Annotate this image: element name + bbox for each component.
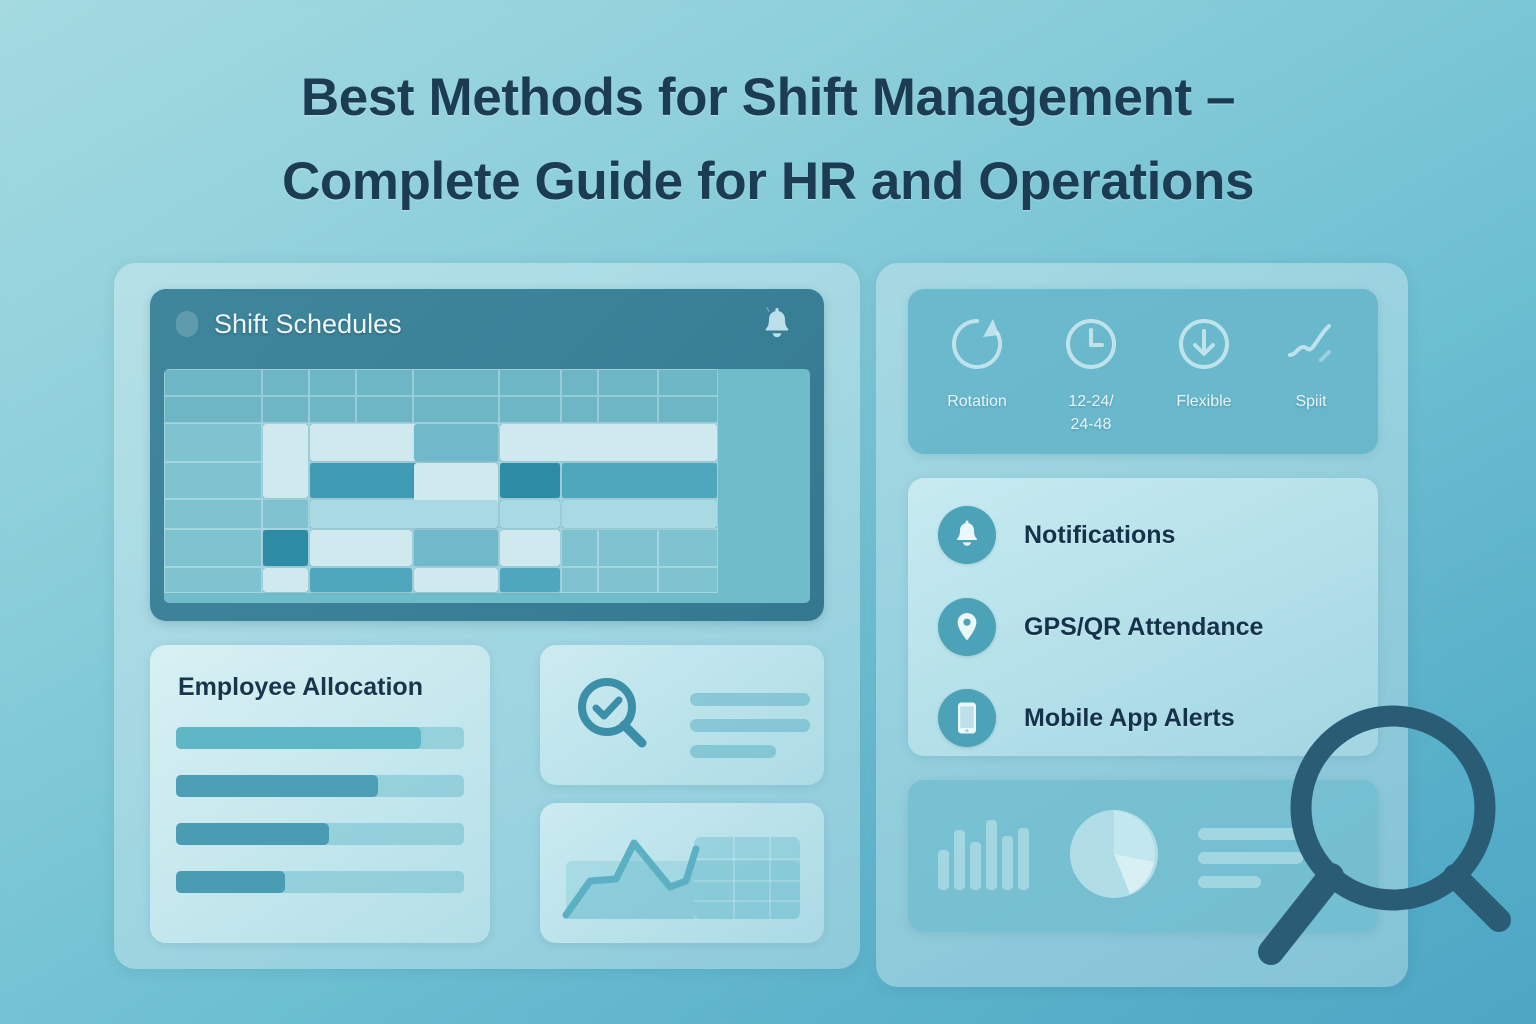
schedule-cell[interactable] [164,423,262,462]
schedule-cell[interactable] [164,462,262,499]
allocation-bar [176,823,464,845]
shift-schedules-title: Shift Schedules [214,309,402,340]
schedule-cell[interactable] [164,396,262,423]
analytics-bar [970,842,981,890]
shift-type-hours[interactable]: 12-24/ 24-48 [1036,313,1146,436]
schedule-cell[interactable] [413,396,499,423]
shift-type-label: Flexible [1149,390,1259,413]
schedule-cell[interactable] [658,529,718,567]
allocation-bar-fill [176,823,329,845]
schedule-block[interactable] [310,568,412,592]
pin-icon [938,598,996,656]
analytics-bar [986,820,997,890]
trend-chart-card[interactable] [540,803,824,943]
schedule-block[interactable] [500,500,560,528]
magnifier-icon [1243,690,1536,990]
analytics-bar [1002,836,1013,890]
schedule-block[interactable] [263,568,308,592]
shift-types-card: Rotation 12-24/ 24-48 Flexible Spiit [908,289,1378,454]
schedule-block[interactable] [310,530,412,566]
feature-label: Mobile App Alerts [1024,704,1235,733]
schedule-cell[interactable] [499,369,561,396]
schedule-cell[interactable] [598,529,658,567]
bell-icon [938,506,996,564]
allocation-bar-fill [176,775,378,797]
line-area-chart-icon [562,829,804,921]
shift-type-rotation[interactable]: Rotation [922,313,1032,413]
schedule-block[interactable] [500,530,560,566]
schedule-block[interactable] [414,530,498,566]
schedule-cell[interactable] [309,396,356,423]
schedule-cell[interactable] [598,369,658,396]
schedule-block[interactable] [500,424,717,461]
schedule-block[interactable] [263,530,308,566]
rotate-icon [946,313,1008,375]
search-check-icon [572,673,656,757]
allocation-bar [176,871,464,893]
schedule-cell[interactable] [164,369,262,396]
shift-type-label: Rotation [922,390,1032,413]
schedule-cell[interactable] [598,567,658,593]
shift-type-label: Spiit [1256,390,1366,413]
text-line [690,719,810,732]
bell-icon[interactable] [760,306,794,342]
schedule-cell[interactable] [356,369,413,396]
schedule-cell[interactable] [262,396,309,423]
schedule-cell[interactable] [561,369,598,396]
schedule-block[interactable] [500,568,560,592]
shift-type-split[interactable]: Spiit [1256,313,1366,413]
shift-schedules-header: Shift Schedules [150,289,824,359]
feature-item-notifications[interactable]: Notifications [938,506,1175,564]
status-dot-icon [176,311,198,337]
shift-type-flexible[interactable]: Flexible [1149,313,1259,413]
schedule-cell[interactable] [356,396,413,423]
title-line-2: Complete Guide for HR and Operations [0,140,1536,224]
title-line-1: Best Methods for Shift Management – [0,56,1536,140]
schedule-cell[interactable] [561,567,598,593]
schedule-block[interactable] [263,424,308,498]
analytics-bar [954,830,965,890]
mobile-icon [938,689,996,747]
schedule-cell[interactable] [164,529,262,567]
feature-item-mobile[interactable]: Mobile App Alerts [938,689,1235,747]
schedule-cell[interactable] [561,529,598,567]
analytics-bar [938,850,949,890]
allocation-bar-fill [176,727,421,749]
schedule-cell[interactable] [499,396,561,423]
bar-chart-icon [938,820,1033,890]
schedule-cell[interactable] [598,396,658,423]
schedule-block[interactable] [310,500,498,528]
download-icon [1173,313,1235,375]
allocation-bar [176,727,464,749]
schedule-cell[interactable] [561,396,598,423]
analytics-bar [1018,828,1029,890]
schedule-block[interactable] [562,463,717,498]
allocation-bar [176,775,464,797]
schedule-grid[interactable] [164,369,810,603]
schedule-cell[interactable] [164,499,262,529]
shift-type-label: 12-24/ 24-48 [1036,390,1146,436]
schedule-cell[interactable] [164,567,262,593]
clock-icon [1060,313,1122,375]
page-title: Best Methods for Shift Management – Comp… [0,56,1536,224]
feature-label: Notifications [1024,521,1175,550]
schedule-cell[interactable] [658,369,718,396]
allocation-bar-fill [176,871,285,893]
left-panel: Shift Schedules Employee Allocation [114,263,860,969]
schedule-block[interactable] [500,463,560,498]
feature-item-attendance[interactable]: GPS/QR Attendance [938,598,1263,656]
search-summary-card[interactable] [540,645,824,785]
schedule-block[interactable] [414,568,498,592]
schedule-block[interactable] [562,500,717,528]
employee-allocation-title: Employee Allocation [178,673,423,702]
feature-label: GPS/QR Attendance [1024,613,1263,642]
schedule-cell[interactable] [658,567,718,593]
schedule-block[interactable] [414,424,498,461]
text-line [690,745,776,758]
pie-chart-icon [1068,808,1160,900]
schedule-cell[interactable] [262,369,309,396]
schedule-cell[interactable] [658,396,718,423]
shift-schedules-card[interactable]: Shift Schedules [150,289,824,621]
employee-allocation-card: Employee Allocation [150,645,490,943]
zigzag-icon [1280,313,1342,375]
schedule-cell[interactable] [262,499,309,529]
text-line [690,693,810,706]
schedule-cell[interactable] [309,369,356,396]
schedule-cell[interactable] [413,369,499,396]
